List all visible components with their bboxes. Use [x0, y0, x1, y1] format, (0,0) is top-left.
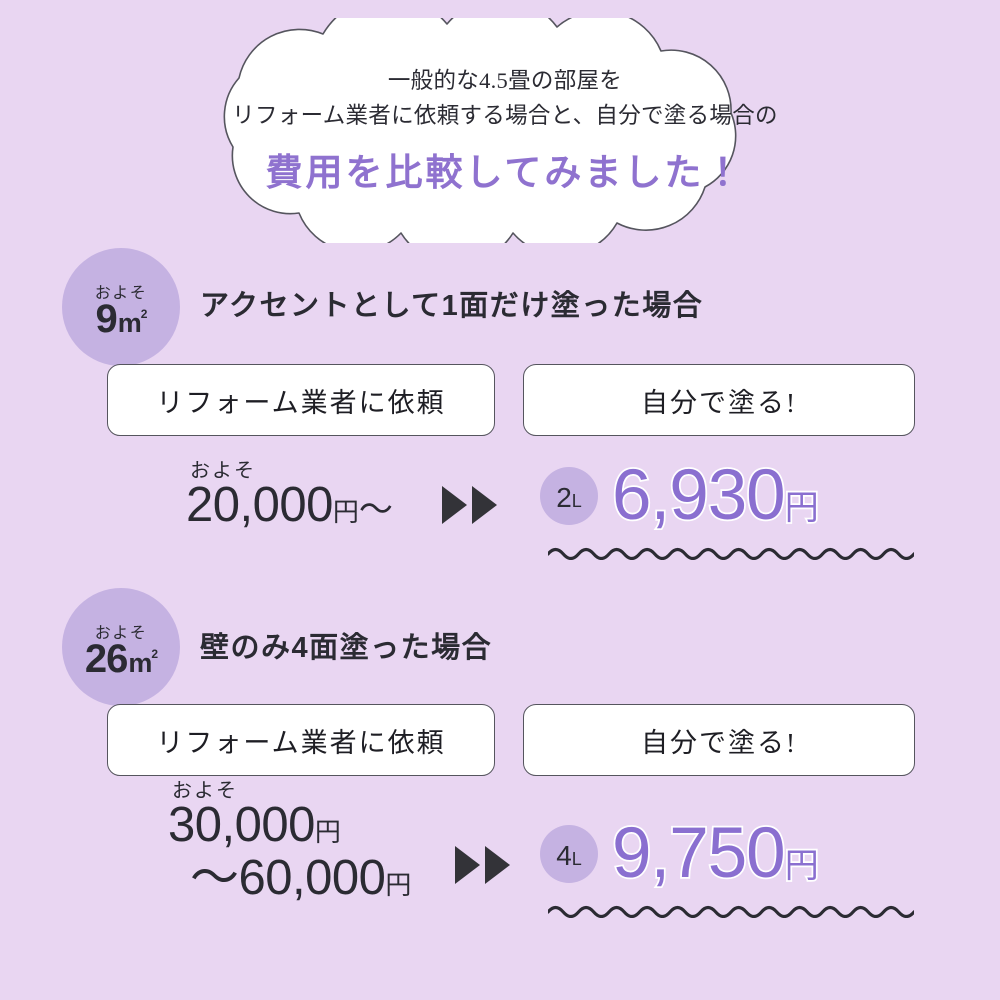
- area-badge-1: およそ 9m2: [62, 248, 180, 366]
- section-2-contractor-amount-2: 〜60,000: [190, 851, 385, 905]
- section-1-contractor-amount: 20,000: [186, 478, 333, 532]
- header-line-2: リフォーム業者に依頼する場合と、自分で塗る場合の: [232, 100, 778, 133]
- section-1-volume-unit: L: [572, 491, 582, 512]
- section-2-contractor-yen-1: 円: [315, 817, 341, 847]
- area-badge-2-unit: m: [128, 650, 151, 677]
- section-1-title: アクセントとして1面だけ塗った場合: [200, 282, 703, 324]
- section-2-contractor-amount-1: 30,000: [168, 798, 315, 852]
- section-2-contractor-amount-line1: 30,000円: [168, 799, 411, 852]
- section-1-wavy-underline-icon: [548, 544, 914, 560]
- section-2-contractor-box[interactable]: リフォーム業者に依頼: [107, 704, 495, 776]
- section-1-diy-box[interactable]: 自分で塗る!: [523, 364, 915, 436]
- section-2-diy-yen: 円: [785, 847, 819, 885]
- section-2-option-boxes: リフォーム業者に依頼 自分で塗る!: [0, 704, 1000, 778]
- section-2-diy-box[interactable]: 自分で塗る!: [523, 704, 915, 776]
- section-1-contractor-box[interactable]: リフォーム業者に依頼: [107, 364, 495, 436]
- section-1-contractor-yen: 円: [333, 497, 359, 527]
- section-2-diy-amount-group: 9,750円: [612, 818, 819, 889]
- section-1-arrow-icon: [442, 486, 497, 524]
- header-headline: 費用を比較してみました！: [266, 142, 745, 196]
- section-2-wavy-underline-icon: [548, 902, 914, 918]
- section-2-contractor-amount-line2: 〜60,000円: [168, 852, 411, 905]
- header-line-1: 一般的な4.5畳の部屋を: [388, 65, 622, 98]
- section-1-header: およそ 9m2 アクセントとして1面だけ塗った場合: [0, 248, 1000, 366]
- area-badge-2: およそ 26m2: [62, 588, 180, 706]
- section-2-volume-unit: L: [572, 849, 582, 870]
- section-1-contractor-price: およそ 20,000円〜: [186, 454, 392, 532]
- section-1-price-row: およそ 20,000円〜 2L 6,930円: [0, 454, 1000, 574]
- right-arrow-icon: [455, 846, 480, 884]
- header-cloud: 一般的な4.5畳の部屋を リフォーム業者に依頼する場合と、自分で塗る場合の 費用…: [110, 18, 900, 243]
- section-2-volume-badge: 4L: [540, 825, 598, 883]
- area-badge-2-value: 26: [85, 639, 128, 679]
- section-2-contractor-price: およそ 30,000円 〜60,000円: [168, 774, 411, 905]
- right-arrow-icon: [485, 846, 510, 884]
- section-2-price-row: およそ 30,000円 〜60,000円 4L 9,750円: [0, 774, 1000, 934]
- infographic-root: 一般的な4.5畳の部屋を リフォーム業者に依頼する場合と、自分で塗る場合の 費用…: [0, 0, 1000, 1000]
- area-badge-2-value-group: 26m2: [85, 639, 157, 679]
- area-badge-1-value-group: 9m2: [96, 299, 147, 339]
- section-2-arrow-icon: [455, 846, 510, 884]
- section-2-diy-price: 4L 9,750円: [540, 818, 819, 889]
- area-badge-1-superscript: 2: [141, 308, 147, 320]
- section-2-contractor-label: リフォーム業者に依頼: [156, 721, 445, 760]
- section-2-contractor-yen-2: 円: [385, 870, 411, 900]
- section-2-diy-amount: 9,750: [612, 814, 785, 893]
- section-2-volume-number: 4: [556, 840, 572, 872]
- right-arrow-icon: [442, 486, 467, 524]
- section-1-contractor-suffix: 〜: [359, 491, 393, 529]
- section-2-header: およそ 26m2 壁のみ4面塗った場合: [0, 588, 1000, 706]
- section-1-diy-amount: 6,930: [612, 456, 785, 535]
- section-1-diy-label: 自分で塗る!: [641, 381, 797, 420]
- section-1-contractor-amount-line1: 20,000円〜: [186, 479, 392, 532]
- section-1-volume-badge: 2L: [540, 467, 598, 525]
- section-2-diy-label: 自分で塗る!: [641, 721, 797, 760]
- section-1-option-boxes: リフォーム業者に依頼 自分で塗る!: [0, 364, 1000, 438]
- section-1-volume-number: 2: [556, 482, 572, 514]
- section-2-title: 壁のみ4面塗った場合: [200, 624, 492, 666]
- section-1-diy-price: 2L 6,930円: [540, 460, 819, 531]
- section-1-contractor-label: リフォーム業者に依頼: [156, 381, 445, 420]
- right-arrow-icon: [472, 486, 497, 524]
- area-badge-2-superscript: 2: [151, 648, 157, 660]
- section-1-diy-amount-group: 6,930円: [612, 460, 819, 531]
- area-badge-1-value: 9: [96, 299, 117, 339]
- area-badge-1-unit: m: [118, 310, 141, 337]
- section-1-diy-yen: 円: [785, 489, 819, 527]
